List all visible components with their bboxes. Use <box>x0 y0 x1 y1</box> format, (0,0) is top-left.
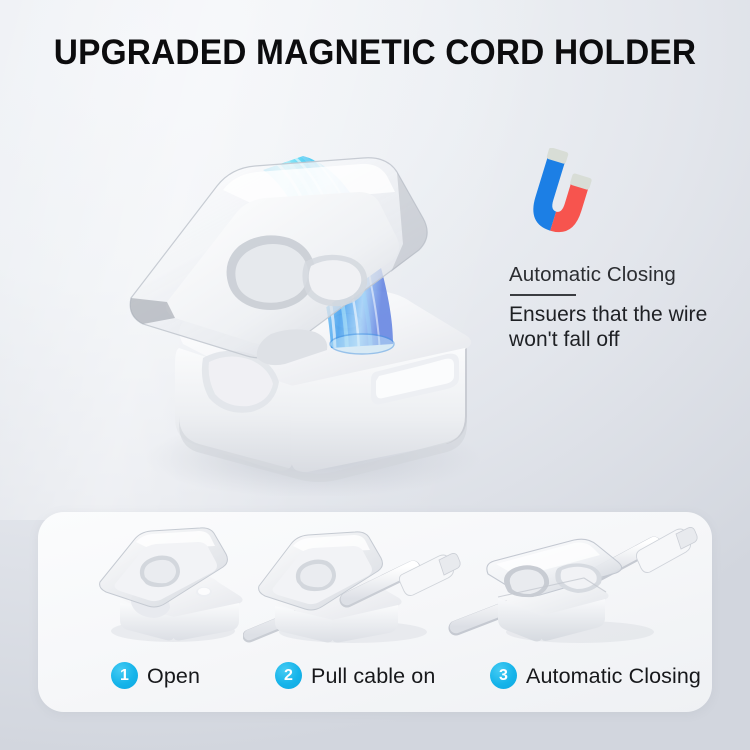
cord-holder-open-icon <box>78 518 264 646</box>
step-label-3: 3 Automatic Closing <box>490 662 701 689</box>
step-text-1: Open <box>147 663 200 689</box>
step-item-1: 1 Open <box>78 512 264 712</box>
step-item-2: 2 Pull cable on <box>243 512 473 712</box>
step-badge-3: 3 <box>490 662 517 689</box>
feature-heading: Automatic Closing <box>509 262 734 288</box>
product-infographic: UPGRADED MAGNETIC CORD HOLDER <box>0 0 750 750</box>
step-text-3: Automatic Closing <box>526 663 701 689</box>
step-badge-2: 2 <box>275 662 302 689</box>
hero-product-image <box>75 86 515 496</box>
step-badge-1: 1 <box>111 662 138 689</box>
steps-card: 1 Open <box>38 512 712 712</box>
cord-holder-with-cable-icon <box>243 518 473 646</box>
feature-divider <box>510 294 576 296</box>
page-title: UPGRADED MAGNETIC CORD HOLDER <box>17 31 733 75</box>
step-item-3: 3 Automatic Closing <box>448 512 710 712</box>
step-text-2: Pull cable on <box>311 663 435 689</box>
cord-holder-closed-with-cable-icon <box>448 518 710 646</box>
step-label-2: 2 Pull cable on <box>275 662 435 689</box>
step-label-1: 1 Open <box>111 662 200 689</box>
horseshoe-magnet-icon <box>513 148 605 252</box>
feature-description: Ensuers that the wire won't fall off <box>509 303 724 352</box>
feature-block: Automatic Closing Ensuers that the wire … <box>509 148 734 352</box>
